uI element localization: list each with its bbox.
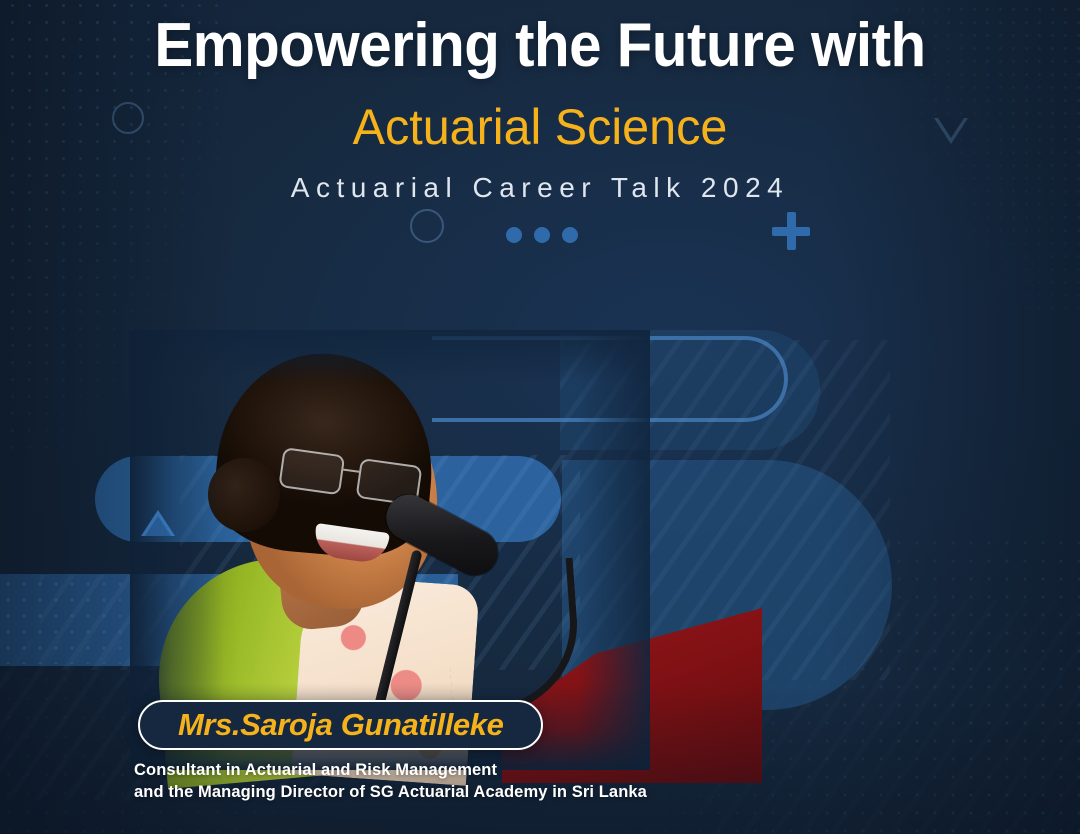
page-subtitle: Actuarial Science <box>16 98 1064 156</box>
speaker-name: Mrs.Saroja Gunatilleke <box>178 707 503 743</box>
speaker-name-badge: Mrs.Saroja Gunatilleke <box>138 700 543 750</box>
speaker-credentials-line-1: Consultant in Actuarial and Risk Managem… <box>134 760 647 782</box>
event-name: Actuarial Career Talk 2024 <box>0 172 1080 204</box>
speaker-credentials: Consultant in Actuarial and Risk Managem… <box>134 760 647 804</box>
event-poster: Empowering the Future with Actuarial Sci… <box>0 0 1080 834</box>
page-title: Empowering the Future with <box>32 14 1047 77</box>
speaker-credentials-line-2: and the Managing Director of SG Actuaria… <box>134 782 647 804</box>
